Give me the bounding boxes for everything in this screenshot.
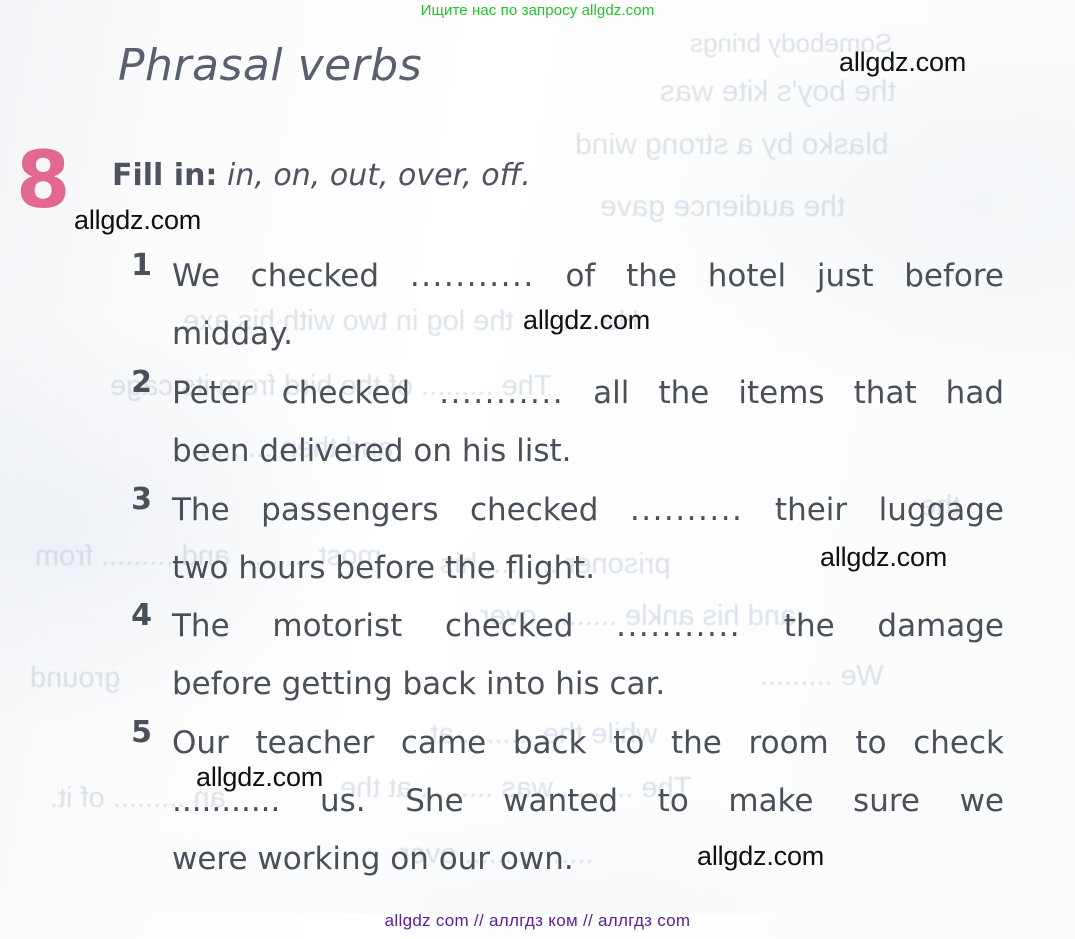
exercise-item-number: 3 [0, 482, 152, 517]
exercise-item-text: The motorist checked ........... the dam… [172, 598, 1004, 714]
exercise-item: 4The motorist checked ........... the da… [0, 598, 1075, 714]
scanned-page: Somebody bringsthe boy's kite wasblasko … [0, 0, 1075, 939]
answer-blank[interactable]: ........... [410, 258, 535, 294]
site-watermark: allgdz.com [523, 305, 650, 336]
exercise-number: 8 [16, 142, 70, 220]
bleed-through-text: blasko by a strong wind [575, 128, 889, 162]
exercise-item-text: Peter checked ........... all the items … [172, 365, 1004, 481]
exercise-item-number: 4 [0, 598, 152, 633]
exercise-item-text: The passengers checked .......... their … [172, 482, 1004, 598]
site-footer: allgdz com // аллгдз ком // аллгдз com [0, 911, 1075, 931]
exercise-item-number: 5 [0, 715, 152, 750]
exercise-instruction: Fill in: in, on, out, over, off. [112, 158, 531, 193]
page-title: Phrasal verbs [118, 40, 422, 91]
site-watermark: allgdz.com [839, 47, 966, 78]
answer-blank[interactable]: ........... [439, 375, 564, 411]
exercise-item-text: Our teacher came back to the room to che… [172, 715, 1004, 889]
site-watermark: allgdz.com [697, 841, 824, 872]
site-watermark: allgdz.com [820, 542, 947, 573]
answer-blank[interactable]: .......... [630, 492, 744, 528]
instruction-options: in, on, out, over, off. [227, 158, 531, 193]
site-watermark: allgdz.com [196, 762, 323, 793]
exercise-item: 5Our teacher came back to the room to ch… [0, 715, 1075, 889]
site-promo-header: Ищите нас по запросу allgdz.com [0, 2, 1075, 19]
site-watermark: allgdz.com [74, 205, 201, 236]
exercise-item: 3The passengers checked .......... their… [0, 482, 1075, 598]
exercise-item-number: 2 [0, 365, 152, 400]
exercise-item-number: 1 [0, 248, 152, 283]
exercise-item: 2Peter checked ........... all the items… [0, 365, 1075, 481]
answer-blank[interactable]: ........... [616, 608, 741, 644]
bleed-through-text: the boy's kite was [660, 75, 896, 109]
instruction-label: Fill in: [112, 158, 217, 193]
bleed-through-text: the audience gave [600, 190, 845, 224]
